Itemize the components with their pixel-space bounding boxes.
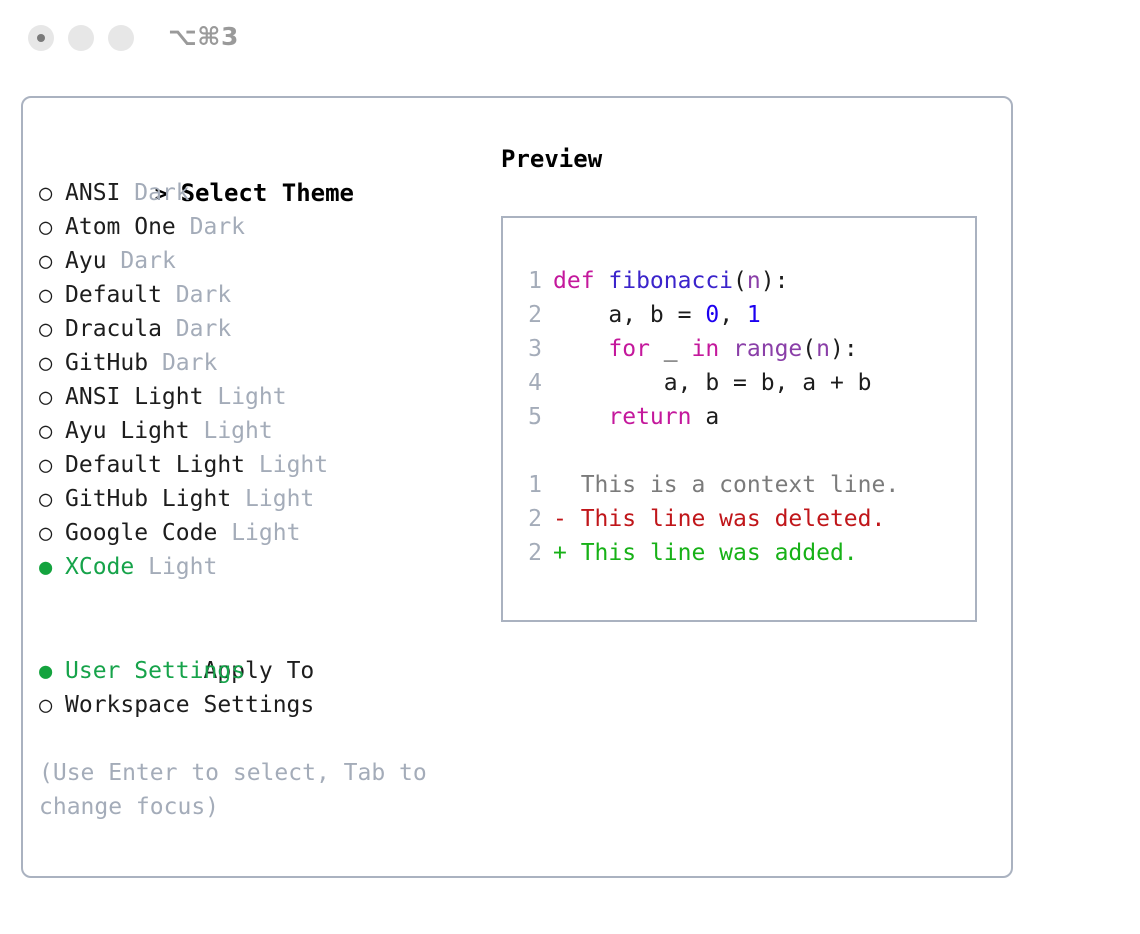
code-token: a, b = b, a + b	[553, 370, 872, 396]
code-line: 5 return a	[516, 400, 968, 434]
app-window: ⌥⌘3 >Select Theme ○ANSI Dark○Atom One Da…	[0, 0, 1140, 934]
radio-unselected-icon[interactable]: ○	[39, 689, 65, 723]
code-token	[553, 404, 608, 430]
radio-unselected-icon[interactable]: ○	[39, 483, 65, 517]
theme-list-item[interactable]: ○GitHub Dark	[39, 346, 479, 380]
line-number: 1	[516, 468, 542, 502]
theme-list: ○ANSI Dark○Atom One Dark○Ayu Dark○Defaul…	[39, 176, 479, 584]
spacer	[190, 418, 204, 444]
theme-name-label: ANSI Light	[65, 384, 203, 410]
diff-sign	[553, 472, 567, 498]
theme-name-label: GitHub Light	[65, 486, 231, 512]
spacer	[107, 248, 121, 274]
theme-mode-tag: Dark	[120, 248, 175, 274]
code-token: return	[608, 404, 691, 430]
theme-mode-tag: Light	[231, 520, 300, 546]
radio-unselected-icon[interactable]: ○	[39, 449, 65, 483]
keyboard-shortcut-label: ⌥⌘3	[168, 22, 239, 51]
spacer	[217, 520, 231, 546]
theme-list-item[interactable]: ○Ayu Dark	[39, 244, 479, 278]
theme-name-label: ANSI	[65, 180, 120, 206]
code-token: in	[691, 336, 719, 362]
keyboard-hint-text: (Use Enter to select, Tab to change focu…	[39, 756, 459, 824]
code-token: a, b =	[553, 302, 705, 328]
line-number: 4	[516, 366, 542, 400]
code-token	[719, 336, 733, 362]
code-token: a	[691, 404, 719, 430]
theme-name-label: Default Light	[65, 452, 245, 478]
spacer	[203, 384, 217, 410]
radio-unselected-icon[interactable]: ○	[39, 279, 65, 313]
close-button-icon[interactable]	[28, 25, 54, 51]
line-number: 2	[516, 298, 542, 332]
diff-sign: -	[553, 506, 567, 532]
code-token: ):	[761, 268, 789, 294]
code-token: def	[553, 268, 608, 294]
theme-list-item[interactable]: ●XCode Light	[39, 550, 479, 584]
theme-mode-tag: Light	[245, 486, 314, 512]
zoom-button-icon[interactable]	[108, 25, 134, 51]
line-number: 1	[516, 264, 542, 298]
spacer	[245, 452, 259, 478]
radio-unselected-icon[interactable]: ○	[39, 347, 65, 381]
apply-to-option-label: User Settings	[65, 658, 245, 684]
theme-mode-tag: Dark	[190, 214, 245, 240]
theme-name-label: Default	[65, 282, 162, 308]
code-token	[553, 336, 608, 362]
theme-selector-panel: >Select Theme ○ANSI Dark○Atom One Dark○A…	[21, 96, 1013, 878]
theme-list-item[interactable]: ○Default Dark	[39, 278, 479, 312]
apply-to-section: Apply To ●User Settings○Workspace Settin…	[39, 620, 479, 722]
code-line: 1def fibonacci(n):	[516, 264, 968, 298]
diff-text: This is a context line.	[567, 472, 899, 498]
theme-list-header: >Select Theme	[39, 142, 479, 176]
diff-line: 2+ This line was added.	[516, 536, 968, 570]
radio-selected-icon[interactable]: ●	[39, 551, 65, 585]
theme-mode-tag: Light	[203, 418, 272, 444]
theme-list-item[interactable]: ○ANSI Light Light	[39, 380, 479, 414]
theme-list-item[interactable]: ○Google Code Light	[39, 516, 479, 550]
spacer	[162, 316, 176, 342]
spacer	[231, 486, 245, 512]
diff-text: This line was deleted.	[567, 506, 886, 532]
code-token: 0	[705, 302, 719, 328]
theme-name-label: Ayu	[65, 248, 107, 274]
code-token: ):	[830, 336, 858, 362]
theme-name-label: XCode	[65, 554, 134, 580]
code-token: 1	[747, 302, 761, 328]
theme-list-header-label: Select Theme	[181, 179, 354, 207]
theme-mode-tag: Dark	[134, 180, 189, 206]
code-line: 4 a, b = b, a + b	[516, 366, 968, 400]
line-number: 3	[516, 332, 542, 366]
line-number: 2	[516, 502, 542, 536]
traffic-light-group	[28, 25, 134, 51]
code-token: (	[802, 336, 816, 362]
theme-mode-tag: Light	[217, 384, 286, 410]
apply-to-option-label: Workspace Settings	[65, 692, 314, 718]
spacer	[176, 214, 190, 240]
radio-unselected-icon[interactable]: ○	[39, 177, 65, 211]
line-number: 5	[516, 400, 542, 434]
theme-mode-tag: Light	[148, 554, 217, 580]
apply-to-header: Apply To	[39, 620, 479, 654]
window-titlebar: ⌥⌘3	[0, 0, 1140, 78]
theme-mode-tag: Dark	[176, 282, 231, 308]
code-line: 2 a, b = 0, 1	[516, 298, 968, 332]
radio-unselected-icon[interactable]: ○	[39, 211, 65, 245]
diff-sign: +	[553, 540, 567, 566]
radio-unselected-icon[interactable]: ○	[39, 313, 65, 347]
radio-unselected-icon[interactable]: ○	[39, 245, 65, 279]
code-token: (	[733, 268, 747, 294]
code-preview-area: 1def fibonacci(n):2 a, b = 0, 13 for _ i…	[516, 264, 968, 570]
theme-list-item[interactable]: ○Ayu Light Light	[39, 414, 479, 448]
spacer	[162, 282, 176, 308]
code-token: fibonacci	[608, 268, 733, 294]
theme-list-item[interactable]: ○GitHub Light Light	[39, 482, 479, 516]
radio-unselected-icon[interactable]: ○	[39, 381, 65, 415]
code-token: ,	[719, 302, 747, 328]
diff-text: This line was added.	[567, 540, 858, 566]
minimize-button-icon[interactable]	[68, 25, 94, 51]
theme-list-item[interactable]: ○Atom One Dark	[39, 210, 479, 244]
theme-name-label: Ayu Light	[65, 418, 190, 444]
theme-mode-tag: Dark	[162, 350, 217, 376]
code-token: range	[733, 336, 802, 362]
line-number: 2	[516, 536, 542, 570]
theme-name-label: Atom One	[65, 214, 176, 240]
theme-list-item[interactable]: ○Dracula Dark	[39, 312, 479, 346]
spacer	[148, 350, 162, 376]
radio-selected-icon[interactable]: ●	[39, 655, 65, 689]
preview-title: Preview	[501, 142, 1001, 176]
code-token: n	[747, 268, 761, 294]
preview-box: 1def fibonacci(n):2 a, b = 0, 13 for _ i…	[501, 216, 977, 622]
theme-list-item[interactable]: ○Default Light Light	[39, 448, 479, 482]
code-diff-separator	[516, 434, 968, 468]
code-token: n	[816, 336, 830, 362]
diff-line: 1 This is a context line.	[516, 468, 968, 502]
apply-to-option[interactable]: ○Workspace Settings	[39, 688, 479, 722]
preview-column: Preview 1def fibonacci(n):2 a, b = 0, 13…	[501, 142, 1001, 622]
spacer	[134, 554, 148, 580]
theme-list-column: >Select Theme ○ANSI Dark○Atom One Dark○A…	[39, 142, 479, 824]
theme-name-label: Google Code	[65, 520, 217, 546]
radio-unselected-icon[interactable]: ○	[39, 415, 65, 449]
theme-mode-tag: Dark	[176, 316, 231, 342]
theme-mode-tag: Light	[259, 452, 328, 478]
code-token: for	[608, 336, 650, 362]
radio-unselected-icon[interactable]: ○	[39, 517, 65, 551]
spacer	[120, 180, 134, 206]
diff-line: 2- This line was deleted.	[516, 502, 968, 536]
code-token: _	[650, 336, 692, 362]
theme-name-label: Dracula	[65, 316, 162, 342]
code-line: 3 for _ in range(n):	[516, 332, 968, 366]
theme-name-label: GitHub	[65, 350, 148, 376]
